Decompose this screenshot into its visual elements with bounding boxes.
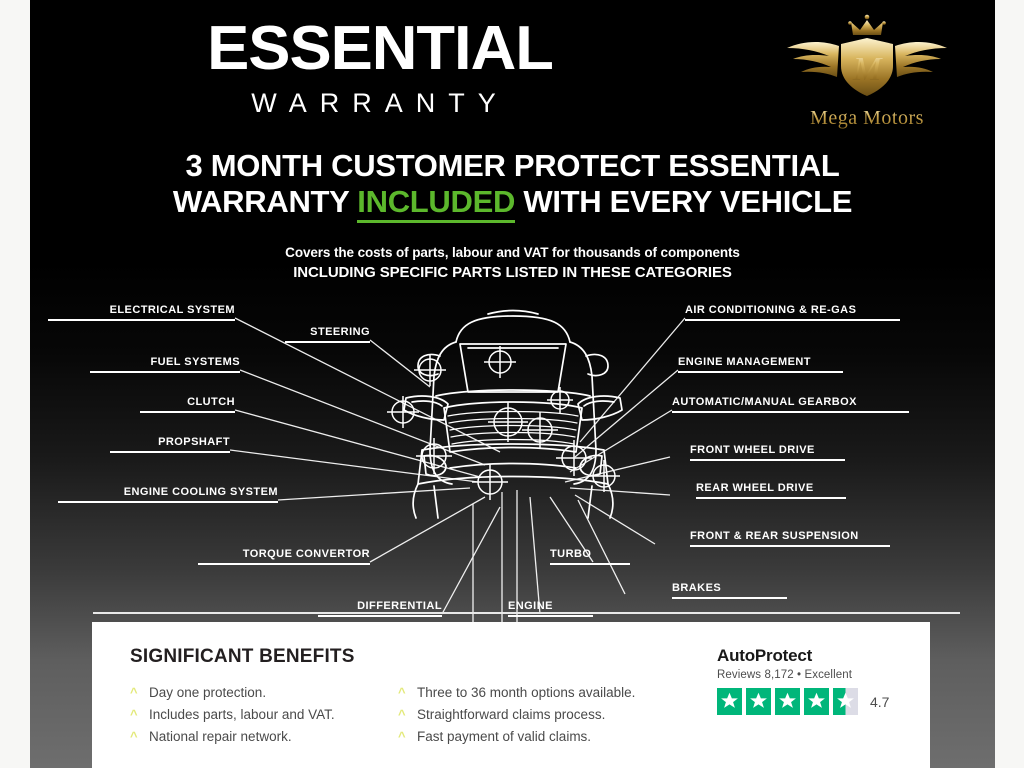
benefits-column-right: ^ Three to 36 month options available. ^… — [398, 682, 666, 748]
autoprotect-rating: AutoProtect Reviews 8,172 • Excellent — [717, 646, 902, 715]
benefit-text: Includes parts, labour and VAT. — [149, 704, 335, 726]
diagram-label-engine-cooling-system: ENGINE COOLING SYSTEM — [58, 486, 278, 502]
benefit-item: ^ National repair network. — [130, 726, 398, 748]
chevron-icon: ^ — [130, 704, 144, 725]
benefit-item: ^ Day one protection. — [130, 682, 398, 704]
benefit-item: ^ Straightforward claims process. — [398, 704, 666, 726]
benefit-text: National repair network. — [149, 726, 292, 748]
benefits-column-left: ^ Day one protection. ^ Includes parts, … — [130, 682, 398, 748]
chevron-icon: ^ — [398, 704, 412, 725]
benefit-item: ^ Three to 36 month options available. — [398, 682, 666, 704]
mega-motors-logo: M Mega Motors — [767, 10, 967, 132]
diagram-label-electrical-system: ELECTRICAL SYSTEM — [48, 304, 235, 320]
benefit-text: Fast payment of valid claims. — [417, 726, 591, 748]
diagram-label-turbo: TURBO — [550, 548, 630, 564]
headline-line-1: 3 MONTH CUSTOMER PROTECT ESSENTIAL — [185, 148, 839, 183]
coverage-diagram: ELECTRICAL SYSTEM FUEL SYSTEMS CLUTCH PR… — [30, 292, 995, 637]
autoprotect-reviews: Reviews 8,172 • Excellent — [717, 669, 902, 681]
diagram-label-rear-wheel-drive: REAR WHEEL DRIVE — [696, 482, 846, 498]
star-rating: 4.7 — [717, 688, 902, 715]
stars-icon — [717, 688, 861, 715]
rating-score: 4.7 — [870, 694, 889, 710]
benefit-item: ^ Includes parts, labour and VAT. — [130, 704, 398, 726]
warranty-poster: ESSENTIAL WARRANTY — [30, 0, 995, 768]
headline-line-2-before: WARRANTY — [173, 184, 357, 219]
benefit-text: Three to 36 month options available. — [417, 682, 635, 704]
autoprotect-name: AutoProtect — [717, 646, 902, 666]
diagram-label-propshaft: PROPSHAFT — [110, 436, 230, 452]
logo-monogram: M — [852, 51, 883, 88]
headline: 3 MONTH CUSTOMER PROTECT ESSENTIAL WARRA… — [30, 148, 995, 221]
diagram-label-steering: STEERING — [285, 326, 370, 342]
logo-wordmark: Mega Motors — [767, 107, 967, 130]
diagram-label-engine-management: ENGINE MANAGEMENT — [678, 356, 843, 372]
diagram-label-suspension: FRONT & REAR SUSPENSION — [690, 530, 890, 546]
diagram-label-torque-convertor: TORQUE CONVERTOR — [198, 548, 370, 564]
significant-benefits-panel: SIGNIFICANT BENEFITS ^ Day one protectio… — [92, 622, 930, 768]
chevron-icon: ^ — [398, 682, 412, 703]
poster-header: ESSENTIAL WARRANTY — [30, 0, 995, 140]
covers-line-2: INCLUDING SPECIFIC PARTS LISTED IN THESE… — [30, 262, 995, 284]
diagram-label-gearbox: AUTOMATIC/MANUAL GEARBOX — [672, 396, 909, 412]
diagram-label-air-conditioning: AIR CONDITIONING & RE-GAS — [685, 304, 900, 320]
diagram-label-clutch: CLUTCH — [140, 396, 235, 412]
diagram-label-fuel-systems: FUEL SYSTEMS — [90, 356, 240, 372]
diagram-label-brakes: BRAKES — [672, 582, 787, 598]
covers-text: Covers the costs of parts, labour and VA… — [30, 243, 995, 284]
benefit-item: ^ Fast payment of valid claims. — [398, 726, 666, 748]
winged-shield-crown-icon: M — [777, 10, 957, 106]
covers-line-1: Covers the costs of parts, labour and VA… — [30, 243, 995, 263]
car-front-line-art — [378, 300, 648, 530]
headline-highlight: INCLUDED — [357, 184, 515, 223]
title-block: ESSENTIAL WARRANTY — [30, 18, 730, 117]
page-subtitle: WARRANTY — [30, 90, 730, 117]
chevron-icon: ^ — [130, 726, 144, 747]
section-divider — [93, 612, 960, 614]
benefit-text: Day one protection. — [149, 682, 266, 704]
chevron-icon: ^ — [130, 682, 144, 703]
headline-line-2-after: WITH EVERY VEHICLE — [515, 184, 852, 219]
diagram-label-front-wheel-drive: FRONT WHEEL DRIVE — [690, 444, 845, 460]
page-title: ESSENTIAL — [30, 18, 737, 80]
chevron-icon: ^ — [398, 726, 412, 747]
benefit-text: Straightforward claims process. — [417, 704, 605, 726]
